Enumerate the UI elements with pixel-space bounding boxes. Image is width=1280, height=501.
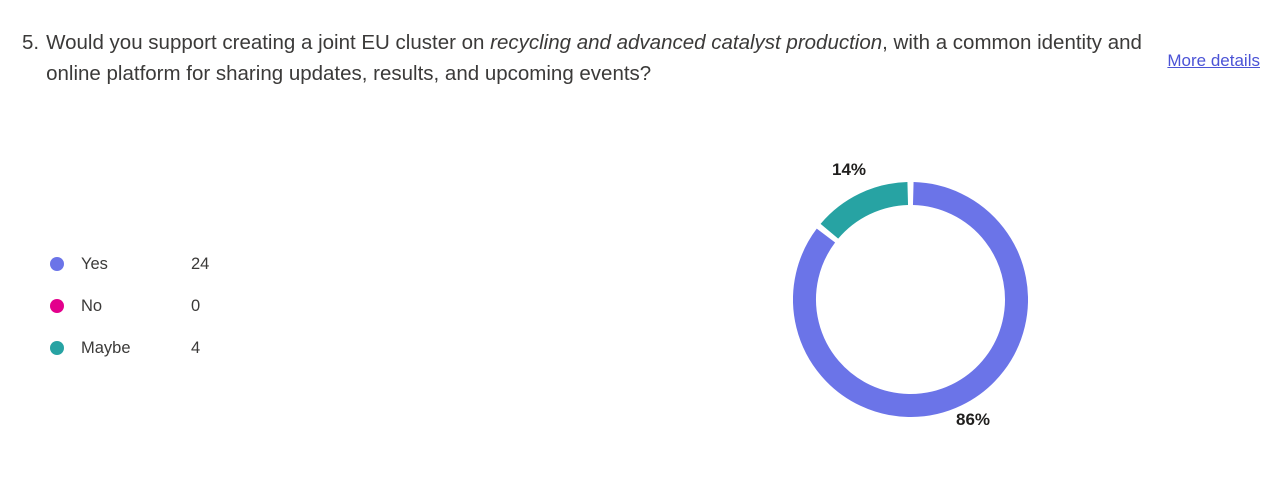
donut-chart-svg	[793, 182, 1028, 417]
legend-value-yes: 24	[191, 253, 209, 275]
legend-value-maybe: 4	[191, 337, 200, 359]
question-block: 5. Would you support creating a joint EU…	[0, 0, 1280, 110]
chart-legend: Yes 24 No 0 Maybe 4	[50, 243, 310, 369]
donut-percent-label-maybe: 14%	[832, 160, 866, 180]
more-details-container: More details	[1167, 50, 1260, 72]
donut-segment-maybe[interactable]	[829, 194, 907, 232]
chart-area: Yes 24 No 0 Maybe 4 14% 86%	[0, 110, 1280, 501]
legend-swatch-yes-icon	[50, 257, 64, 271]
legend-label-maybe: Maybe	[81, 337, 191, 359]
legend-item-yes[interactable]: Yes 24	[50, 243, 310, 285]
question-row: 5. Would you support creating a joint EU…	[22, 27, 1147, 89]
donut-percent-label-yes: 86%	[956, 410, 990, 430]
legend-label-yes: Yes	[81, 253, 191, 275]
legend-swatch-maybe-icon	[50, 341, 64, 355]
legend-value-no: 0	[191, 295, 200, 317]
question-text-emphasis: recycling and advanced catalyst producti…	[490, 31, 882, 54]
legend-swatch-no-icon	[50, 299, 64, 313]
donut-chart[interactable]	[793, 182, 1028, 417]
question-text-part1: Would you support creating a joint EU cl…	[46, 31, 490, 54]
legend-item-no[interactable]: No 0	[50, 285, 310, 327]
legend-label-no: No	[81, 295, 191, 317]
legend-item-maybe[interactable]: Maybe 4	[50, 327, 310, 369]
question-number: 5.	[22, 27, 46, 58]
more-details-link[interactable]: More details	[1167, 51, 1260, 70]
question-text: Would you support creating a joint EU cl…	[46, 27, 1147, 89]
